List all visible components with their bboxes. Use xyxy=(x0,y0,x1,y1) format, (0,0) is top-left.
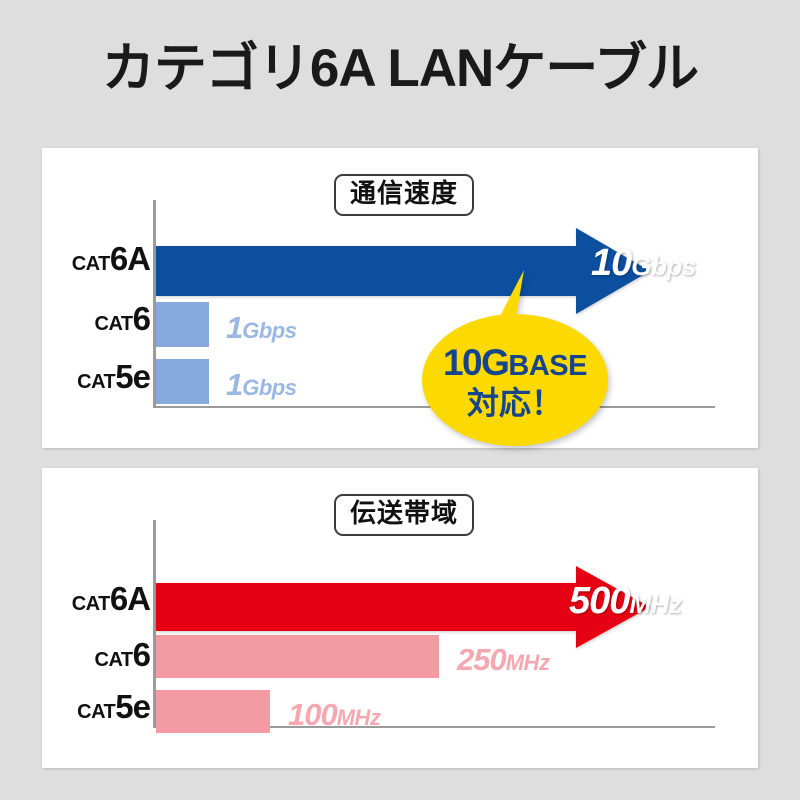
callout-line1-big: 10G xyxy=(443,342,508,383)
category-labels-speed: CAT6A CAT6 CAT5e xyxy=(42,148,150,448)
category-label-cat5e: CAT5e xyxy=(50,360,150,393)
chart-title-speed: 通信速度 xyxy=(334,174,474,216)
bar-cat5e-bandwidth xyxy=(156,690,270,733)
bar-cat6-speed xyxy=(156,302,209,347)
bar-value-cat6-bandwidth: 250MHz xyxy=(457,644,549,675)
category-prefix: CAT xyxy=(95,649,133,671)
value-unit: Gbps xyxy=(631,251,695,281)
category-suffix: 6A xyxy=(110,580,150,617)
value-unit: MHz xyxy=(337,705,381,730)
category-suffix: 5e xyxy=(115,688,150,725)
value-unit: Gbps xyxy=(242,375,296,400)
callout-10gbase: 10GBASE 対応！ xyxy=(420,268,610,448)
chart-panel-speed: CAT6A CAT6 CAT5e 10Gbps 1Gbps 1Gbps xyxy=(42,148,758,448)
value-number: 100 xyxy=(288,697,337,732)
category-label-cat6: CAT6 xyxy=(50,638,150,671)
value-number: 250 xyxy=(457,642,506,677)
page-title: カテゴリ6A LANケーブル xyxy=(0,42,800,95)
category-label-cat6a: CAT6A xyxy=(50,582,150,615)
callout-line1-small: BASE xyxy=(508,350,587,382)
value-number: 1 xyxy=(226,367,242,402)
category-label-cat5e: CAT5e xyxy=(50,690,150,723)
bar-value-cat6-speed: 1Gbps xyxy=(226,312,296,343)
category-label-cat6a: CAT6A xyxy=(50,242,150,275)
category-prefix: CAT xyxy=(72,593,110,615)
category-prefix: CAT xyxy=(95,313,133,335)
value-number: 500 xyxy=(569,580,629,622)
bar-cat5e-speed xyxy=(156,359,209,404)
bar-value-cat5e-speed: 1Gbps xyxy=(226,369,296,400)
value-unit: Gbps xyxy=(242,318,296,343)
category-suffix: 5e xyxy=(115,358,150,395)
callout-line2: 対応！ xyxy=(420,387,610,421)
category-label-cat6: CAT6 xyxy=(50,302,150,335)
callout-text: 10GBASE 対応！ xyxy=(420,344,610,420)
category-prefix: CAT xyxy=(77,371,115,393)
bar-value-cat5e-bandwidth: 100MHz xyxy=(288,699,380,730)
category-suffix: 6 xyxy=(133,300,150,337)
value-unit: MHz xyxy=(629,589,681,619)
bar-cat6-bandwidth xyxy=(156,635,439,678)
chart-title-bandwidth: 伝送帯域 xyxy=(334,494,474,536)
chart-panel-bandwidth: CAT6A CAT6 CAT5e 500MHz 250MHz 100MHz xyxy=(42,468,758,768)
category-suffix: 6A xyxy=(110,240,150,277)
category-suffix: 6 xyxy=(133,636,150,673)
category-prefix: CAT xyxy=(72,253,110,275)
value-unit: MHz xyxy=(506,650,550,675)
bar-value-cat6a-bandwidth: 500MHz xyxy=(569,582,681,620)
category-labels-bandwidth: CAT6A CAT6 CAT5e xyxy=(42,468,150,768)
category-prefix: CAT xyxy=(77,701,115,723)
value-number: 1 xyxy=(226,310,242,345)
